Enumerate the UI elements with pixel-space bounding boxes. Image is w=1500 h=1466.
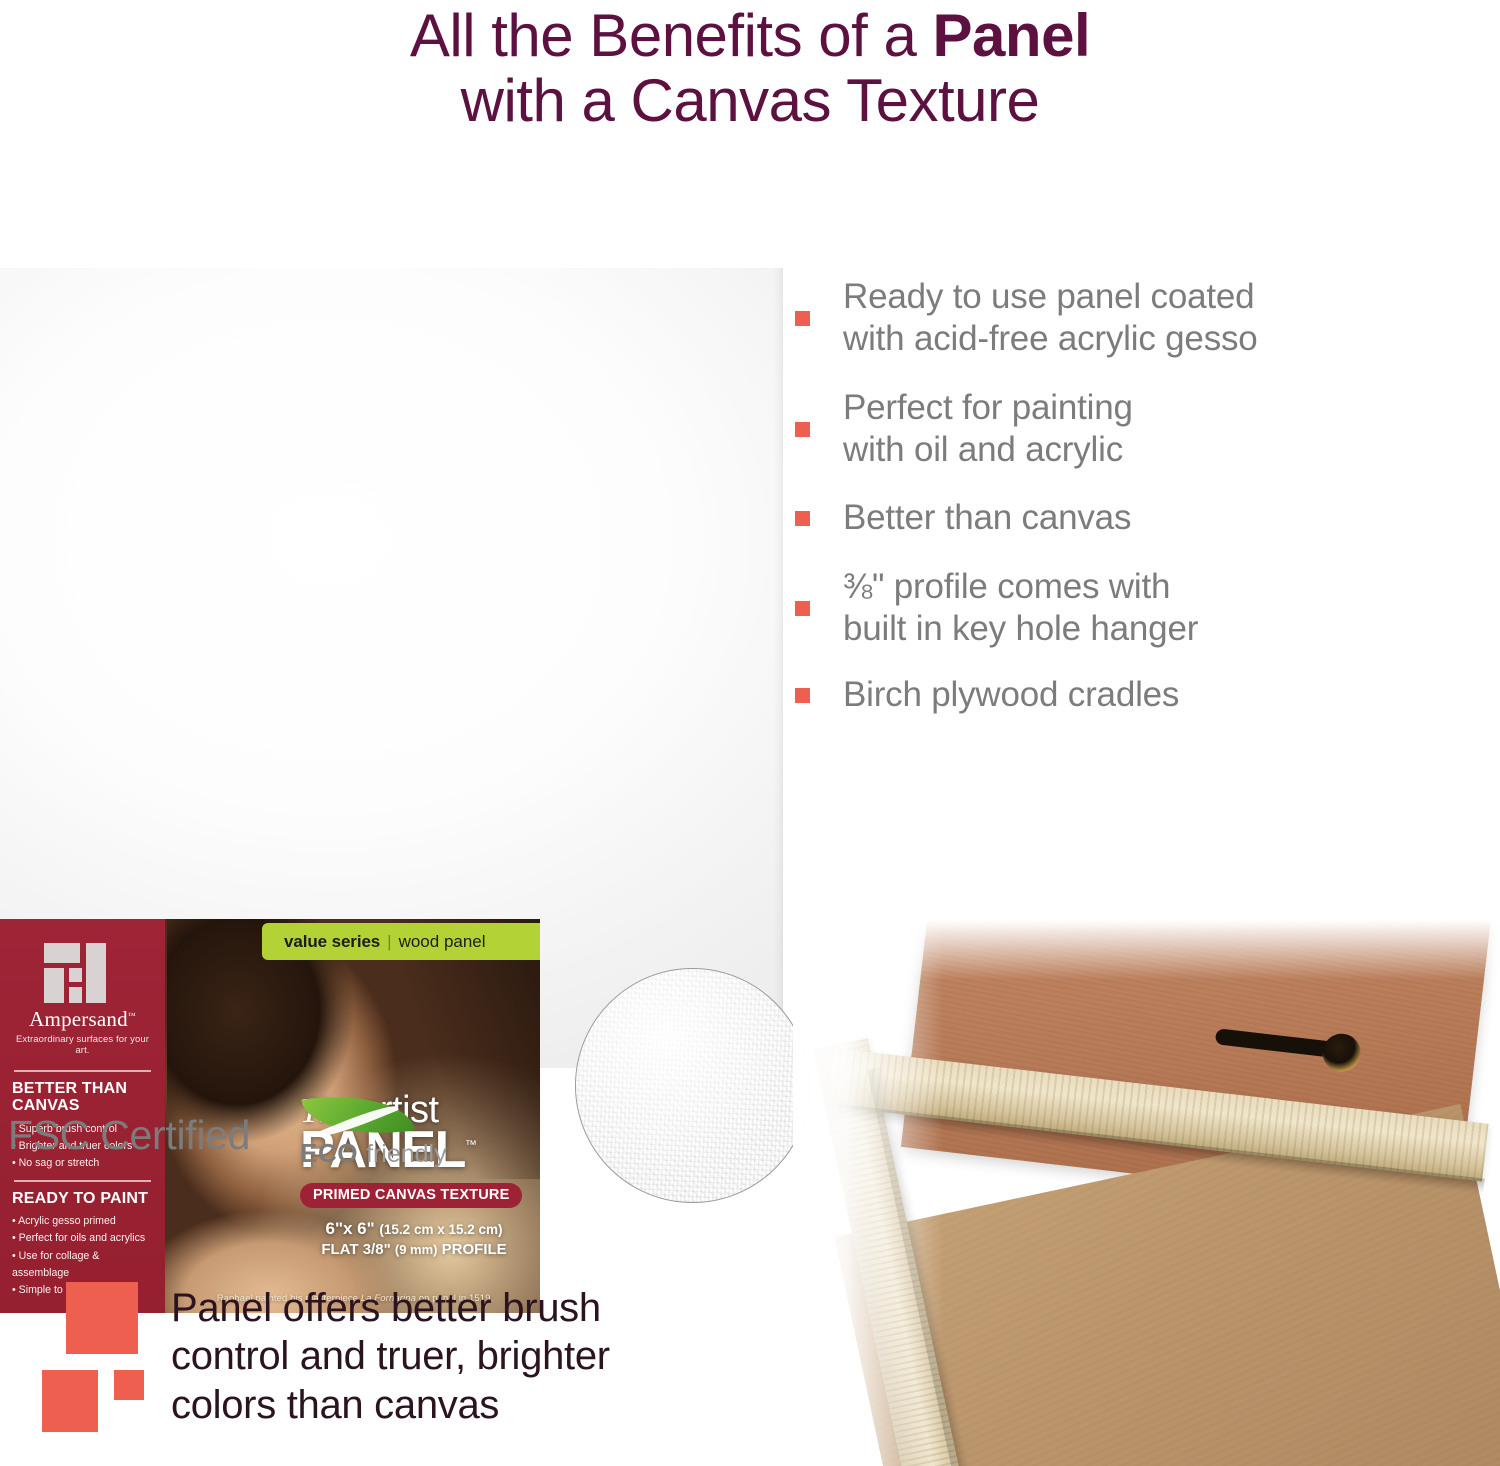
title-line-2: with a Canvas Texture (0, 69, 1500, 134)
banner-type-label: wood panel (399, 932, 486, 952)
benefit-line: built in key hole hanger (843, 609, 1198, 648)
benefits-list: Ready to use panel coated with acid-free… (795, 276, 1495, 739)
bullet-square-icon (795, 688, 810, 703)
bullet-square-icon (795, 601, 810, 616)
title-line-1-emphasis: Panel (933, 2, 1091, 69)
value-series-banner: value series | wood panel (262, 923, 540, 960)
bullet-square-icon (795, 311, 810, 326)
list-item: Birch plywood cradles (795, 674, 1495, 716)
cradled-wood-panel-photo (793, 920, 1500, 1466)
photo-top-fade (793, 920, 1500, 980)
texture-sheen (576, 969, 809, 1202)
benefit-text: ⅜" profile comes with built in key hole … (843, 566, 1198, 651)
list-item: Perfect for painting with oil and acryli… (795, 387, 1495, 472)
ampersand-wordmark: Ampersand™ (12, 1009, 153, 1030)
divider-rule-2 (14, 1180, 151, 1182)
product-size: 6"x 6" (15.2 cm x 15.2 cm) (300, 1219, 528, 1239)
product-surface-ribbon: PRIMED CANVAS TEXTURE (300, 1183, 522, 1208)
benefit-text: Better than canvas (843, 497, 1131, 539)
ampersand-tagline: Extraordinary surfaces for your art. (12, 1034, 153, 1056)
benefit-line: Ready to use panel coated (843, 277, 1254, 316)
benefit-text: Birch plywood cradles (843, 674, 1179, 716)
product-profile: FLAT 3/8" (9 mm) PROFILE (300, 1241, 528, 1258)
divider-rule-1 (14, 1070, 151, 1072)
bullet-square-icon (795, 511, 810, 526)
caption-line: colors than canvas (171, 1383, 499, 1427)
list-item: Ready to use panel coated with acid-free… (795, 276, 1495, 361)
photo-left-fade (793, 920, 943, 1466)
benefit-text: Perfect for painting with oil and acryli… (843, 387, 1133, 472)
benefit-line: Perfect for painting (843, 388, 1133, 427)
page-title: All the Benefits of a Panel with a Canva… (0, 4, 1500, 134)
eco-friendly-badge: ECOfriendly (290, 1096, 420, 1174)
caption-line: control and truer, brighter (171, 1334, 610, 1378)
package-item: • Acrylic gesso primed (12, 1213, 153, 1230)
benefit-line: with oil and acrylic (843, 430, 1123, 469)
eco-friendly-label: ECOfriendly (300, 1138, 446, 1169)
title-line-1: All the Benefits of a Panel (0, 4, 1500, 69)
banner-divider: | (387, 932, 391, 952)
product-panel-photo: Ampersand™ Extraordinary surfaces for yo… (0, 268, 783, 1068)
list-item: ⅜" profile comes with built in key hole … (795, 566, 1495, 651)
package-heading-ready-to-paint: READY TO PAINT (12, 1190, 153, 1207)
title-line-1-plain: All the Benefits of a (410, 2, 933, 69)
list-item: Better than canvas (795, 497, 1495, 539)
certification-row: FSC Certified ECOfriendly (8, 1096, 420, 1174)
ampersand-logo-mark (44, 943, 122, 1003)
caption-text: Panel offers better brush control and tr… (171, 1282, 610, 1429)
ampersand-squares-logo-icon (42, 1282, 157, 1427)
keyhole-hanger (1213, 1017, 1366, 1072)
benefit-text: Ready to use panel coated with acid-free… (843, 276, 1258, 361)
package-item: • Perfect for oils and acrylics (12, 1230, 153, 1247)
package-item: • Use for collage & assemblage (12, 1248, 153, 1282)
benefit-line: with acid-free acrylic gesso (843, 319, 1258, 358)
caption-line: Panel offers better brush (171, 1286, 601, 1330)
bullet-square-icon (795, 422, 810, 437)
banner-series-label: value series (284, 932, 380, 952)
bottom-caption: Panel offers better brush control and tr… (42, 1282, 610, 1429)
keyhole-circle (1321, 1032, 1363, 1074)
canvas-texture-swatch (575, 968, 810, 1203)
benefit-line: ⅜" profile comes with (843, 567, 1170, 606)
fsc-certified-label: FSC Certified (8, 1112, 250, 1159)
